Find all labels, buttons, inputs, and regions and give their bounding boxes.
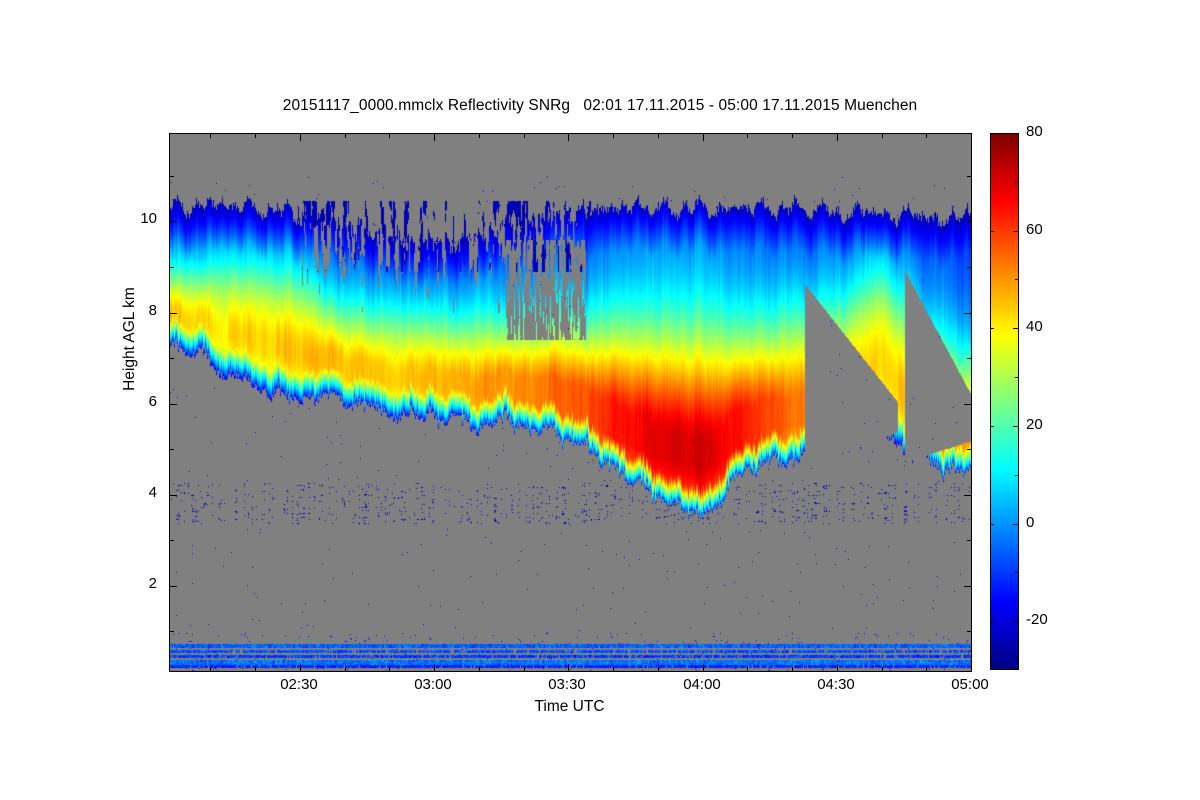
x-tick: [568, 664, 569, 671]
x-minor-tick: [613, 134, 614, 138]
y-tick-label: 4: [97, 484, 157, 501]
x-minor-tick: [524, 667, 525, 671]
x-tick: [703, 134, 704, 141]
y-minor-tick: [967, 631, 971, 632]
y-minor-tick: [170, 267, 174, 268]
x-minor-tick: [658, 667, 659, 671]
x-minor-tick: [345, 134, 346, 138]
page-title: 20151117_0000.mmclx Reflectivity SNRg 02…: [0, 97, 1200, 115]
y-tick-label: 10: [97, 210, 157, 227]
y-tick: [964, 586, 971, 587]
y-minor-tick: [170, 631, 174, 632]
x-tick: [971, 134, 972, 141]
colorbar-tick: [990, 328, 994, 329]
x-tick: [568, 134, 569, 141]
y-minor-tick: [967, 267, 971, 268]
y-tick: [964, 221, 971, 222]
colorbar-minor-tick: [1015, 182, 1019, 183]
colorbar-tick-label: 80: [1026, 123, 1043, 140]
y-axis-title: Height AGL km: [121, 229, 139, 449]
colorbar-tick: [1013, 328, 1019, 329]
colorbar-tick-label: 0: [1026, 514, 1034, 531]
x-minor-tick: [747, 667, 748, 671]
y-tick: [964, 404, 971, 405]
colorbar-tick: [990, 524, 994, 525]
y-minor-tick: [967, 176, 971, 177]
colorbar-tick: [1013, 426, 1019, 427]
y-minor-tick: [170, 540, 174, 541]
x-minor-tick: [792, 667, 793, 671]
x-minor-tick: [926, 667, 927, 671]
x-minor-tick: [658, 134, 659, 138]
x-minor-tick: [255, 134, 256, 138]
y-tick: [170, 404, 177, 405]
x-minor-tick: [479, 134, 480, 138]
colorbar-tick-label: -20: [1026, 611, 1048, 628]
y-tick: [170, 495, 177, 496]
x-minor-tick: [255, 667, 256, 671]
x-tick: [703, 664, 704, 671]
y-tick: [170, 586, 177, 587]
x-tick-label: 03:00: [388, 676, 478, 693]
x-tick: [434, 134, 435, 141]
y-minor-tick: [170, 176, 174, 177]
colorbar-tick: [990, 621, 994, 622]
x-tick: [300, 664, 301, 671]
colorbar-tick: [990, 231, 994, 232]
y-minor-tick: [170, 449, 174, 450]
y-minor-tick: [967, 540, 971, 541]
colorbar-minor-tick: [1015, 279, 1019, 280]
x-minor-tick: [882, 667, 883, 671]
x-minor-tick: [882, 134, 883, 138]
x-tick: [837, 664, 838, 671]
plot-area[interactable]: [169, 133, 972, 672]
x-minor-tick: [792, 134, 793, 138]
y-minor-tick: [170, 358, 174, 359]
x-tick-label: 03:30: [522, 676, 612, 693]
colorbar-tick: [1013, 133, 1019, 134]
x-tick-label: 04:30: [791, 676, 881, 693]
x-minor-tick: [524, 134, 525, 138]
x-minor-tick: [747, 134, 748, 138]
reflectivity-heatmap: [170, 134, 971, 671]
y-tick: [964, 313, 971, 314]
y-tick: [170, 221, 177, 222]
colorbar-tick: [1013, 524, 1019, 525]
x-tick: [434, 664, 435, 671]
colorbar-tick: [1013, 231, 1019, 232]
x-minor-tick: [613, 667, 614, 671]
colorbar-tick: [1013, 621, 1019, 622]
x-minor-tick: [479, 667, 480, 671]
x-tick: [300, 134, 301, 141]
x-minor-tick: [345, 667, 346, 671]
colorbar-tick-label: 20: [1026, 416, 1043, 433]
colorbar-tick-label: 40: [1026, 318, 1043, 335]
x-tick-label: 02:30: [254, 676, 344, 693]
figure-canvas: 20151117_0000.mmclx Reflectivity SNRg 02…: [0, 0, 1200, 800]
y-minor-tick: [967, 358, 971, 359]
colorbar-tick: [990, 133, 994, 134]
x-minor-tick: [389, 134, 390, 138]
x-minor-tick: [210, 134, 211, 138]
x-tick-label: 05:00: [925, 676, 1015, 693]
colorbar-frame: [990, 133, 1019, 670]
y-tick: [170, 313, 177, 314]
x-axis-title: Time UTC: [169, 698, 970, 716]
colorbar-tick: [990, 426, 994, 427]
x-tick: [837, 134, 838, 141]
colorbar[interactable]: [990, 133, 1019, 670]
colorbar-tick-label: 60: [1026, 221, 1043, 238]
x-minor-tick: [389, 667, 390, 671]
x-tick: [971, 664, 972, 671]
x-minor-tick: [210, 667, 211, 671]
x-minor-tick: [926, 134, 927, 138]
y-tick-label: 2: [97, 575, 157, 592]
colorbar-minor-tick: [1015, 572, 1019, 573]
colorbar-minor-tick: [1015, 377, 1019, 378]
y-minor-tick: [967, 449, 971, 450]
y-tick: [964, 495, 971, 496]
colorbar-minor-tick: [1015, 475, 1019, 476]
x-tick-label: 04:00: [657, 676, 747, 693]
